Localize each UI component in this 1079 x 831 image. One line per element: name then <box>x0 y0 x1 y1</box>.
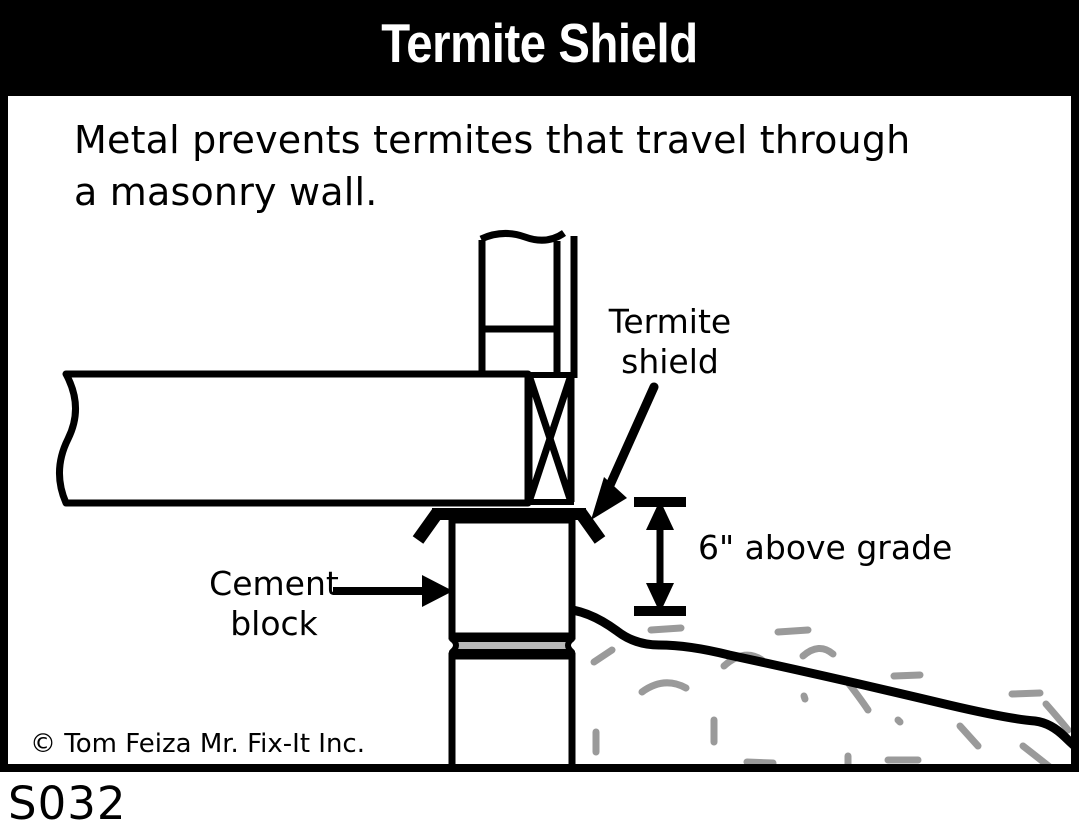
page-title: Termite Shield <box>76 0 1004 88</box>
diagram-canvas: Metal prevents termites that travel thro… <box>8 96 1071 764</box>
diagram-page: Termite Shield Metal prevents termites t… <box>0 0 1079 831</box>
cross-section-drawing <box>8 96 1071 764</box>
diagram-code: S032 <box>8 777 126 830</box>
label-cement-block-line-2: block <box>194 604 354 644</box>
floor-framing <box>59 374 528 503</box>
cement-block <box>452 520 572 764</box>
sill-plate <box>528 374 574 503</box>
label-cement-block-line-1: Cement <box>194 564 354 604</box>
label-termite-shield: Termite shield <box>580 302 760 382</box>
diagram-frame: Metal prevents termites that travel thro… <box>0 88 1079 772</box>
title-bar: Termite Shield <box>0 0 1079 88</box>
upper-masonry-wall <box>481 233 574 378</box>
dimension-6in-above-grade <box>634 500 686 613</box>
copyright-notice: © Tom Feiza Mr. Fix-It Inc. <box>30 729 365 759</box>
grade-line <box>561 609 1071 764</box>
mortar-joint <box>452 639 572 652</box>
label-termite-shield-line-2: shield <box>580 342 760 382</box>
label-above-grade: 6" above grade <box>698 528 952 568</box>
label-cement-block: Cement block <box>194 564 354 644</box>
label-termite-shield-line-1: Termite <box>580 302 760 342</box>
